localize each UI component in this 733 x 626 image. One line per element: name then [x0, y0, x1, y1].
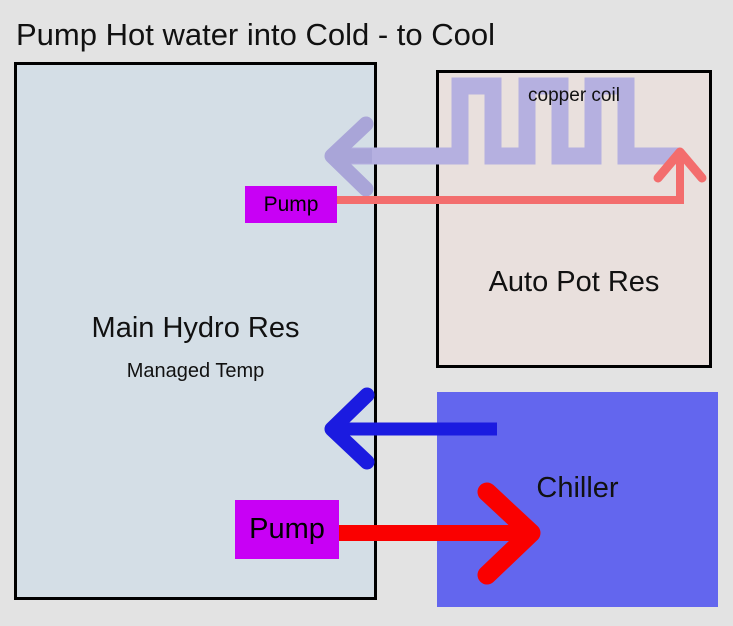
- diagram-canvas: Pump Hot water into Cold - to Cool: [0, 0, 733, 626]
- main-hydro-res-sublabel: Managed Temp: [14, 360, 377, 383]
- chiller-label: Chiller: [437, 472, 718, 505]
- auto-pot-res-box: [436, 70, 712, 368]
- page-title: Pump Hot water into Cold - to Cool: [16, 17, 495, 53]
- copper-coil-label: copper coil: [436, 85, 712, 107]
- auto-pot-res-label: Auto Pot Res: [436, 266, 712, 299]
- pump-bottom-box: Pump: [235, 500, 339, 559]
- pump-top-box: Pump: [245, 186, 337, 223]
- main-hydro-res-label: Main Hydro Res: [14, 312, 377, 345]
